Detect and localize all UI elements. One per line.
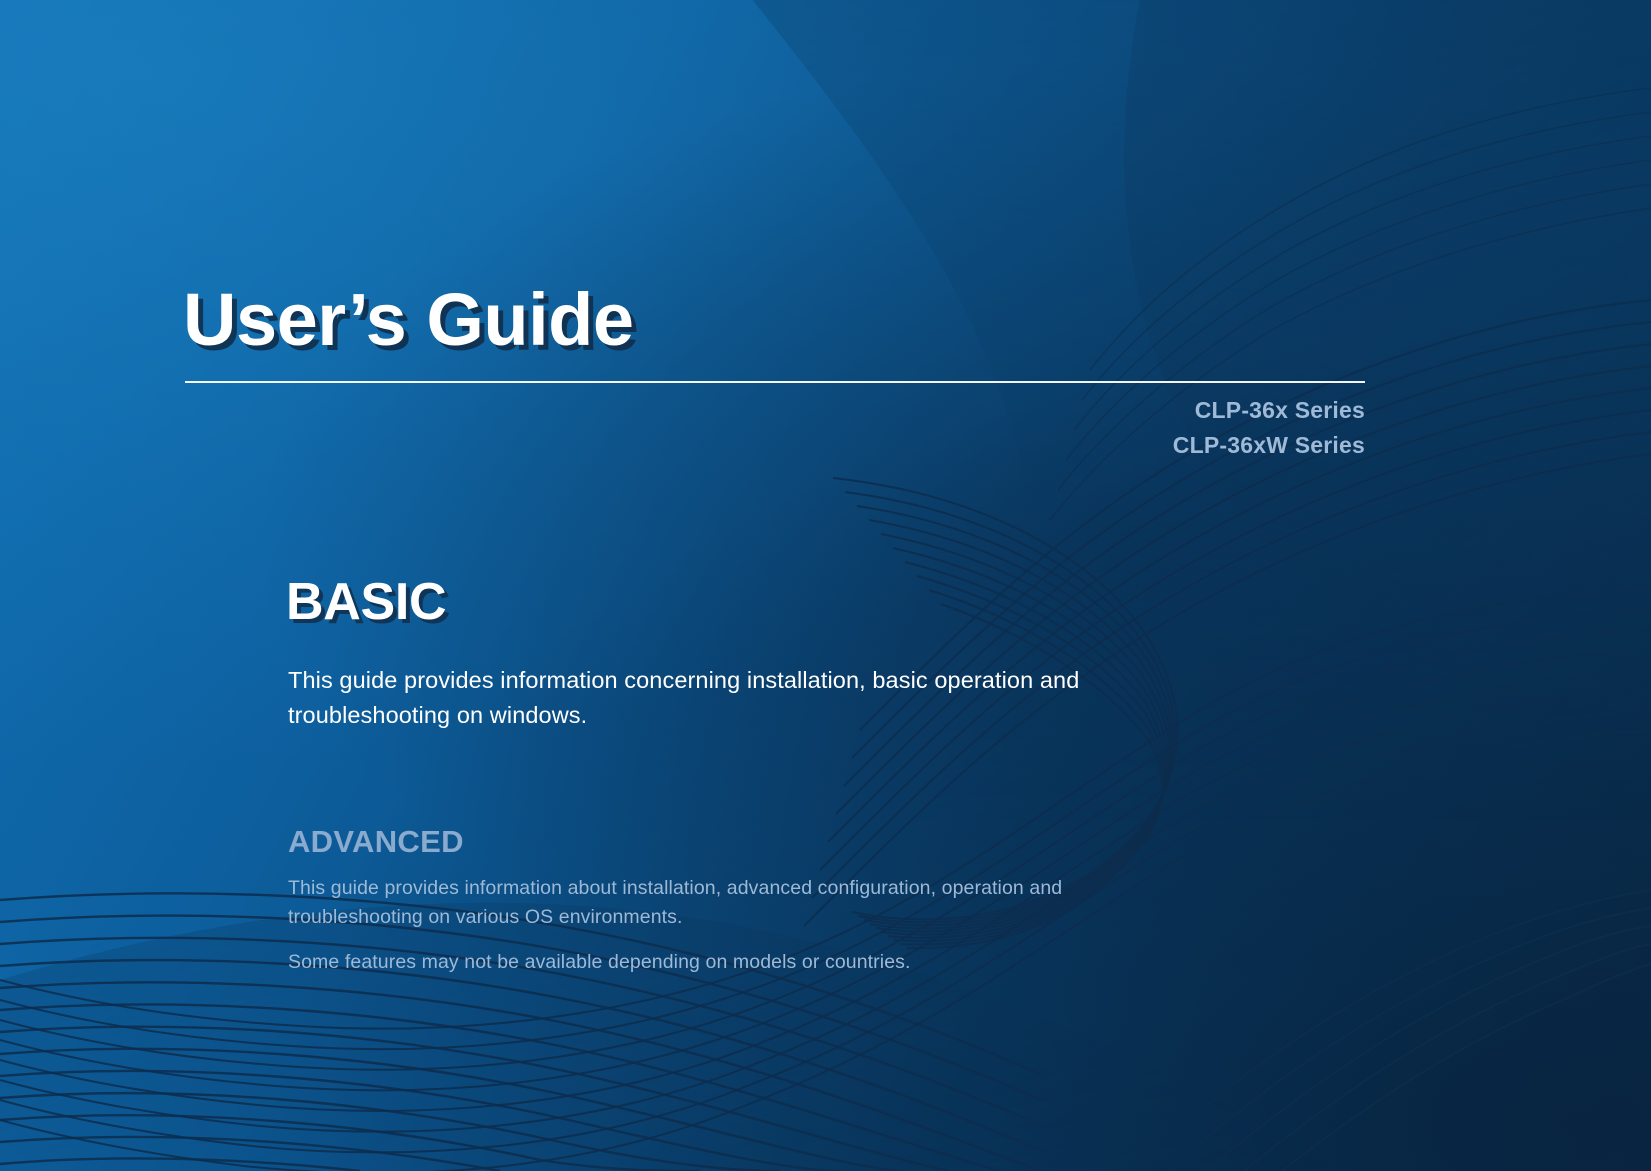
advanced-section-description: This guide provides information about in…	[288, 874, 1188, 977]
basic-section-description: This guide provides information concerni…	[288, 663, 1188, 733]
advanced-section-heading: ADVANCED	[288, 824, 464, 860]
advanced-description-paragraph-1: This guide provides information about in…	[288, 874, 1188, 932]
model-series-item-2: CLP-36xW Series	[1173, 428, 1365, 463]
user-guide-cover-page: User’s Guide CLP-36x Series CLP-36xW Ser…	[0, 0, 1651, 1171]
model-series-item-1: CLP-36x Series	[1173, 393, 1365, 428]
model-series-list: CLP-36x Series CLP-36xW Series	[1173, 393, 1365, 463]
title-divider-rule	[185, 381, 1365, 383]
basic-section-heading: BASIC	[286, 572, 446, 632]
page-title: User’s Guide	[183, 277, 634, 362]
advanced-description-paragraph-2: Some features may not be available depen…	[288, 948, 1188, 977]
cover-content: User’s Guide CLP-36x Series CLP-36xW Ser…	[0, 0, 1651, 1171]
